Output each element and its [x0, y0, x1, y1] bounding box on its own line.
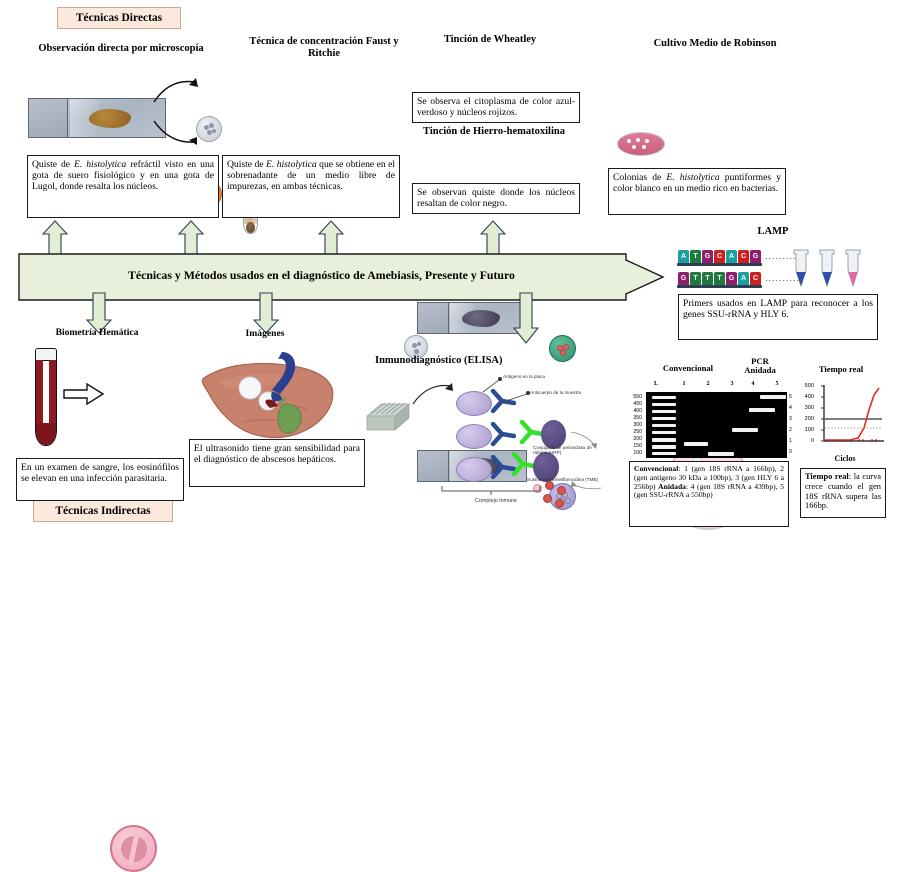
dna-base-a: A [726, 250, 737, 263]
gel-band-lane2 [708, 452, 734, 456]
biometria-arrow-icon [63, 382, 105, 406]
technique-title-wheatley: Tinción de Wheatley [405, 34, 575, 46]
technique-caption-microscopy: Quiste de E. histolytica refráctil visto… [27, 155, 219, 218]
gel-ladder-band [652, 438, 676, 442]
realtime-xlabel: Ciclos [812, 455, 878, 464]
technique-caption-imagenes: El ultrasonido tiene gran sensibilidad p… [189, 439, 365, 487]
gel-ladder-band [652, 396, 676, 399]
technique-title-faust-ritchie: Técnica de concentración Faust y Ritchie [238, 36, 410, 60]
technique-caption-faust-ritchie: Quiste de E. histolytica que se obtiene … [222, 155, 400, 218]
dna-base-t: T [702, 272, 713, 285]
elisa-label-tmb: Sustrato tetrametilbencidina (TMB) [527, 477, 605, 482]
elisa-immune-complex-bracket [440, 484, 544, 496]
pcr-lane-label: 5 [771, 381, 783, 387]
microscope-slide-icon-wheatley [417, 302, 527, 334]
pcr-lane-label: 2 [702, 381, 714, 387]
lamp-title: LAMP [718, 226, 828, 238]
gel-ladder-band [652, 410, 676, 413]
gel-ladder-band [652, 445, 676, 449]
pcr-title-nested: PCR Anidada [735, 357, 785, 375]
realtime-y-tick: 400 [796, 394, 814, 400]
technique-title-biometria: Biometría Hemática [37, 328, 157, 339]
pcr-ladder-tick: 100 [622, 450, 642, 456]
dna-base-t: T [714, 272, 725, 285]
gel-band-lane3 [732, 428, 758, 432]
dna-base-c: C [714, 250, 725, 263]
section-label-direct: Técnicas Directas [57, 7, 181, 29]
pcr-lane-label: 4 [747, 381, 759, 387]
technique-title-microscopy: Observación directa por microscopía [32, 43, 210, 55]
pcr-ladder-tick: 450 [622, 401, 642, 407]
pcr-ladder-tick: 200 [622, 436, 642, 442]
arrow-down-elisa [513, 292, 539, 344]
technique-title-imagenes: Imágenes [220, 329, 310, 340]
pcr-ladder-labels: 550450400350300250200150100 [622, 392, 644, 458]
elisa-label-immune-complex: Complejo inmune [456, 498, 536, 504]
dna-base-a: A [678, 250, 689, 263]
gel-band-lane5 [760, 395, 786, 399]
gel-ladder-band [652, 452, 676, 455]
pcr-ladder-tick: 150 [622, 443, 642, 449]
realtime-y-tick: 300 [796, 405, 814, 411]
pcr-lane-labels: L12345 [640, 381, 790, 391]
pcr-lane-label: 3 [726, 381, 738, 387]
gel-band-lane1 [684, 442, 708, 446]
elisa-microplate-icon [365, 400, 411, 436]
elisa-label-hrp: Conjugado de peroxidasa de rábano (HRP) [533, 445, 605, 456]
technique-title-hierro-hematoxilina: Tinción de Hierro-hematoxilina [405, 126, 583, 138]
pcr-gel-image [646, 392, 787, 458]
pcr-ladder-tick: 250 [622, 429, 642, 435]
dna-base-c: C [750, 272, 761, 285]
technique-caption-cultivo: Colonias de E. histolytica puntiformes y… [608, 168, 786, 215]
technique-caption-hierro-hematoxilina: Se observan quiste donde los núcleos res… [412, 183, 580, 214]
microscope-slide-icon [28, 98, 166, 138]
microscopy-arrow-bottom [152, 118, 200, 146]
technique-title-elisa: Inmunodiagnóstico (ELISA) [375, 355, 545, 367]
realtime-y-tick: 0 [796, 438, 814, 444]
dna-strand-bottom: GTTTGAC........... [678, 272, 804, 285]
dna-strand-top: ATGCACG........... [678, 250, 804, 263]
elisa-label-antibody: Anticuerpo de la muestra [530, 390, 581, 395]
microscopy-arrow-top [152, 78, 200, 106]
pcr-lane-label: 1 [678, 381, 690, 387]
cyst-saline-icon [196, 116, 222, 142]
realtime-y-tick: 500 [796, 383, 814, 389]
technique-caption-biometria: En un examen de sangre, los eosinófilos … [16, 458, 184, 501]
dna-base-g: G [702, 250, 713, 263]
eosinophil-cell-icon [110, 825, 157, 872]
pcr-ladder-tick: 400 [622, 408, 642, 414]
pcr-right-tick: 0 [789, 449, 798, 455]
gel-band-lane4 [749, 408, 775, 412]
pcr-caption: Convencional: 1 (gen 18S rRNA a 166bp), … [629, 461, 789, 527]
realtime-title: Tiempo real [805, 365, 877, 375]
pcr-ladder-tick: 550 [622, 394, 642, 400]
eppendorf-tube-2 [818, 248, 836, 295]
elisa-flow-arrow [412, 382, 454, 408]
dna-base-g: G [726, 272, 737, 285]
technique-title-cultivo: Cultivo Medio de Robinson [640, 38, 790, 50]
cyst-wheatley-icon [549, 335, 576, 362]
dna-base-g: G [678, 272, 689, 285]
pcr-ladder-tick: 350 [622, 415, 642, 421]
elisa-label-antigen: Antígeno en la placa [503, 374, 545, 379]
section-label-indirect: Técnicas Indirectas [33, 500, 173, 522]
main-banner-text: Técnicas y Métodos usados en el diagnóst… [128, 268, 515, 283]
realtime-y-tick: 100 [796, 427, 814, 433]
gel-ladder-band [652, 431, 676, 434]
dna-base-t: T [690, 250, 701, 263]
gel-ladder-band [652, 403, 676, 406]
realtime-y-tick: 200 [796, 416, 814, 422]
technique-caption-wheatley: Se observa el citoplasma de color azul-v… [412, 92, 580, 123]
gel-ladder-band [652, 424, 676, 427]
lamp-caption: Primers usados en LAMP para reconocer a … [678, 294, 878, 340]
dna-base-c: C [738, 250, 749, 263]
petri-dish-small-icon [617, 132, 665, 156]
realtime-y-tick-labels: 5004003002001000 [796, 383, 816, 443]
eppendorf-tube-1 [792, 248, 810, 295]
pcr-title-conventional: Convencional [645, 364, 731, 374]
pcr-ladder-tick: 300 [622, 422, 642, 428]
eppendorf-tube-3 [844, 248, 862, 295]
dna-base-a: A [738, 272, 749, 285]
realtime-amplification-plot [816, 383, 886, 451]
blood-tube-icon [35, 348, 57, 446]
pcr-lane-label: L [650, 381, 662, 387]
dna-base-g: G [750, 250, 761, 263]
dna-base-t: T [690, 272, 701, 285]
liver-illustration-icon [198, 348, 338, 444]
realtime-caption: Tiempo real: la curva crece cuando el ge… [800, 468, 886, 518]
gel-ladder-band [652, 417, 676, 420]
